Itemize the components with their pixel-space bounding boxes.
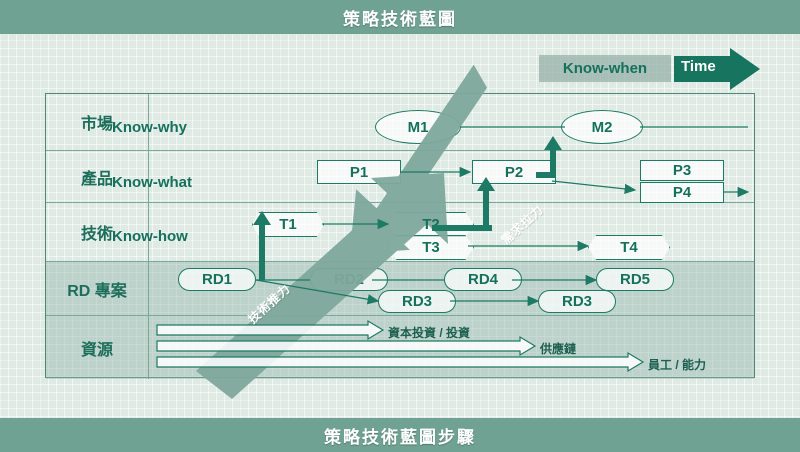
resource-bar-supplychain bbox=[157, 337, 535, 355]
resource-label-staff: 員工 / 能力 bbox=[648, 356, 706, 373]
resource-bars-layer bbox=[0, 0, 800, 452]
resource-bar-capital bbox=[157, 321, 383, 339]
resource-label-capital: 資本投資 / 投資 bbox=[388, 324, 470, 341]
resource-label-supplychain: 供應鏈 bbox=[540, 340, 576, 357]
